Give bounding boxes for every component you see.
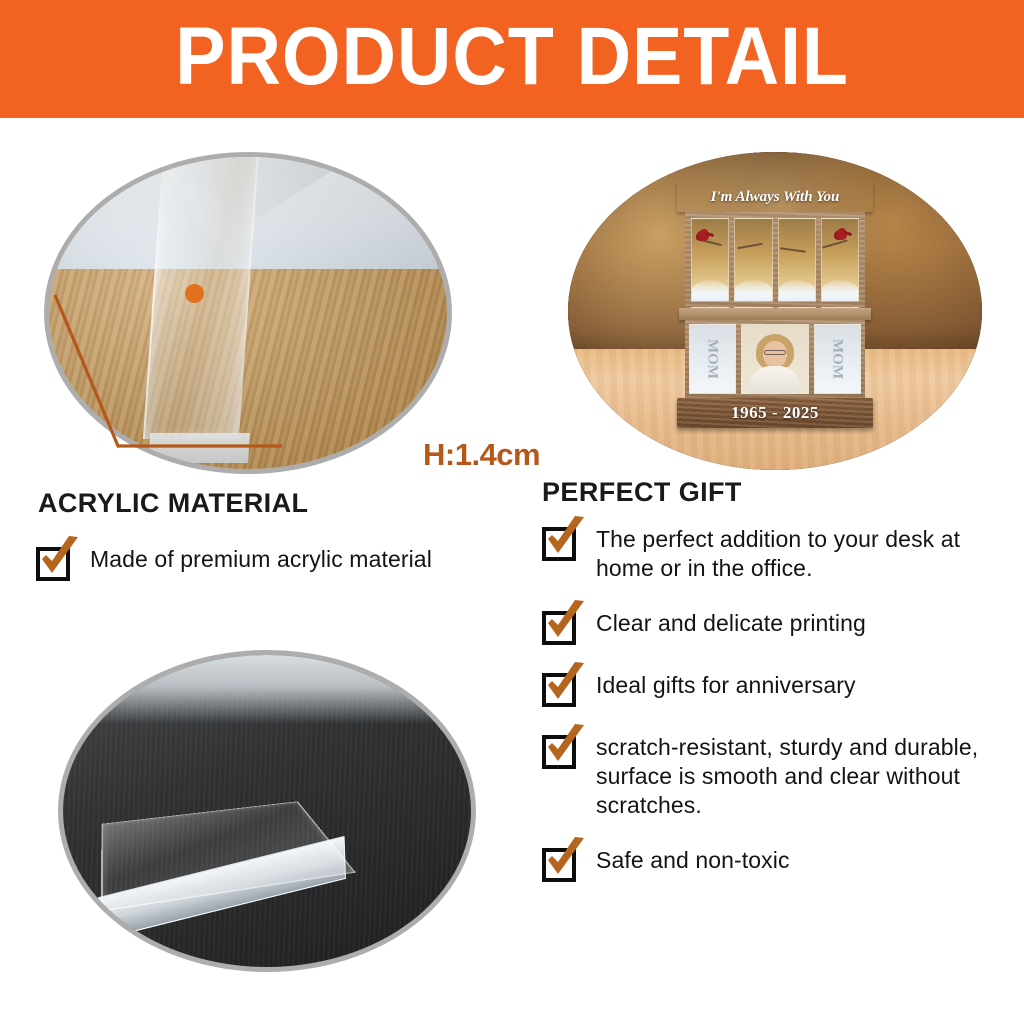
plaque-dates-text: 1965 - 2025 <box>731 403 819 423</box>
window-pane <box>691 218 729 302</box>
background-light-strip <box>63 655 471 724</box>
checkmark-icon <box>541 836 591 884</box>
snow-drift <box>691 280 729 301</box>
checkbox-checked-icon[interactable] <box>542 611 576 645</box>
branch-icon <box>779 247 805 253</box>
checkbox-checked-icon[interactable] <box>542 527 576 561</box>
cardinal-bird-icon <box>836 228 847 240</box>
thickness-label: H:1.4cm <box>423 437 540 473</box>
mom-text-left: MOM <box>705 339 719 379</box>
portrait-photo <box>747 334 803 394</box>
checkbox-checked-icon[interactable] <box>36 547 70 581</box>
section-heading-acrylic-material: ACRYLIC MATERIAL <box>38 488 308 519</box>
glasses-icon <box>764 350 786 355</box>
acrylic-bevel-highlight <box>145 152 384 246</box>
snow-drift <box>778 280 816 301</box>
branch-icon <box>737 243 763 249</box>
checkmark-icon <box>541 661 591 709</box>
acrylic-thickness-photo <box>44 152 452 474</box>
left-mom-pane: MOM <box>689 324 736 394</box>
checkmark-icon <box>541 515 591 563</box>
acrylic-block-photo <box>58 650 476 972</box>
acrylic-base-highlight <box>148 433 250 463</box>
cardinal-bird-icon <box>698 229 709 241</box>
plaque-lower-panes: MOM MOM <box>685 320 865 398</box>
list-item: Ideal gifts for anniversary <box>542 671 1012 707</box>
checkbox-checked-icon[interactable] <box>542 673 576 707</box>
list-item-text: Clear and delicate printing <box>596 609 866 638</box>
checkmark-icon <box>541 723 591 771</box>
plaque-base-board: 1965 - 2025 <box>677 398 873 428</box>
snow-drift <box>734 280 772 301</box>
list-item: Safe and non-toxic <box>542 846 1012 882</box>
branch-icon <box>822 239 848 248</box>
list-item-text: Ideal gifts for anniversary <box>596 671 856 700</box>
window-sill <box>679 308 871 320</box>
list-item-text: The perfect addition to your desk at hom… <box>596 525 1012 583</box>
list-item: The perfect addition to your desk at hom… <box>542 525 1012 583</box>
page-title: PRODUCT DETAIL <box>175 16 849 98</box>
page-header-banner: PRODUCT DETAIL <box>0 0 1024 118</box>
snow-drift <box>821 280 859 301</box>
list-item-text: scratch-resistant, sturdy and durable, s… <box>596 733 1012 820</box>
perfect-gift-list: The perfect addition to your desk at hom… <box>542 525 1012 908</box>
window-pane <box>821 218 859 302</box>
mom-text-right: MOM <box>831 339 845 379</box>
thickness-marker-dot <box>185 284 204 303</box>
checkmark-icon <box>541 599 591 647</box>
checkmark-icon <box>35 535 85 583</box>
list-item-text: Safe and non-toxic <box>596 846 790 875</box>
portrait-pane <box>741 324 809 394</box>
window-pane <box>734 218 772 302</box>
list-item: scratch-resistant, sturdy and durable, s… <box>542 733 1012 820</box>
checkbox-checked-icon[interactable] <box>542 735 576 769</box>
plaque-header-text: I'm Always With You <box>711 189 840 206</box>
plaque-header-board: I'm Always With You <box>677 182 873 212</box>
section-heading-perfect-gift: PERFECT GIFT <box>542 477 742 508</box>
torso <box>749 366 801 394</box>
list-item-text: Made of premium acrylic material <box>90 545 432 574</box>
acrylic-material-list: Made of premium acrylic material <box>36 545 516 607</box>
checkbox-checked-icon[interactable] <box>542 848 576 882</box>
memorial-plaque-photo: I'm Always With You <box>568 152 982 470</box>
right-mom-pane: MOM <box>814 324 861 394</box>
slate-background <box>63 655 471 967</box>
list-item: Made of premium acrylic material <box>36 545 516 581</box>
window-pane <box>778 218 816 302</box>
list-item: Clear and delicate printing <box>542 609 1012 645</box>
acrylic-plaque: I'm Always With You <box>677 182 873 428</box>
wood-table-background <box>49 157 447 469</box>
